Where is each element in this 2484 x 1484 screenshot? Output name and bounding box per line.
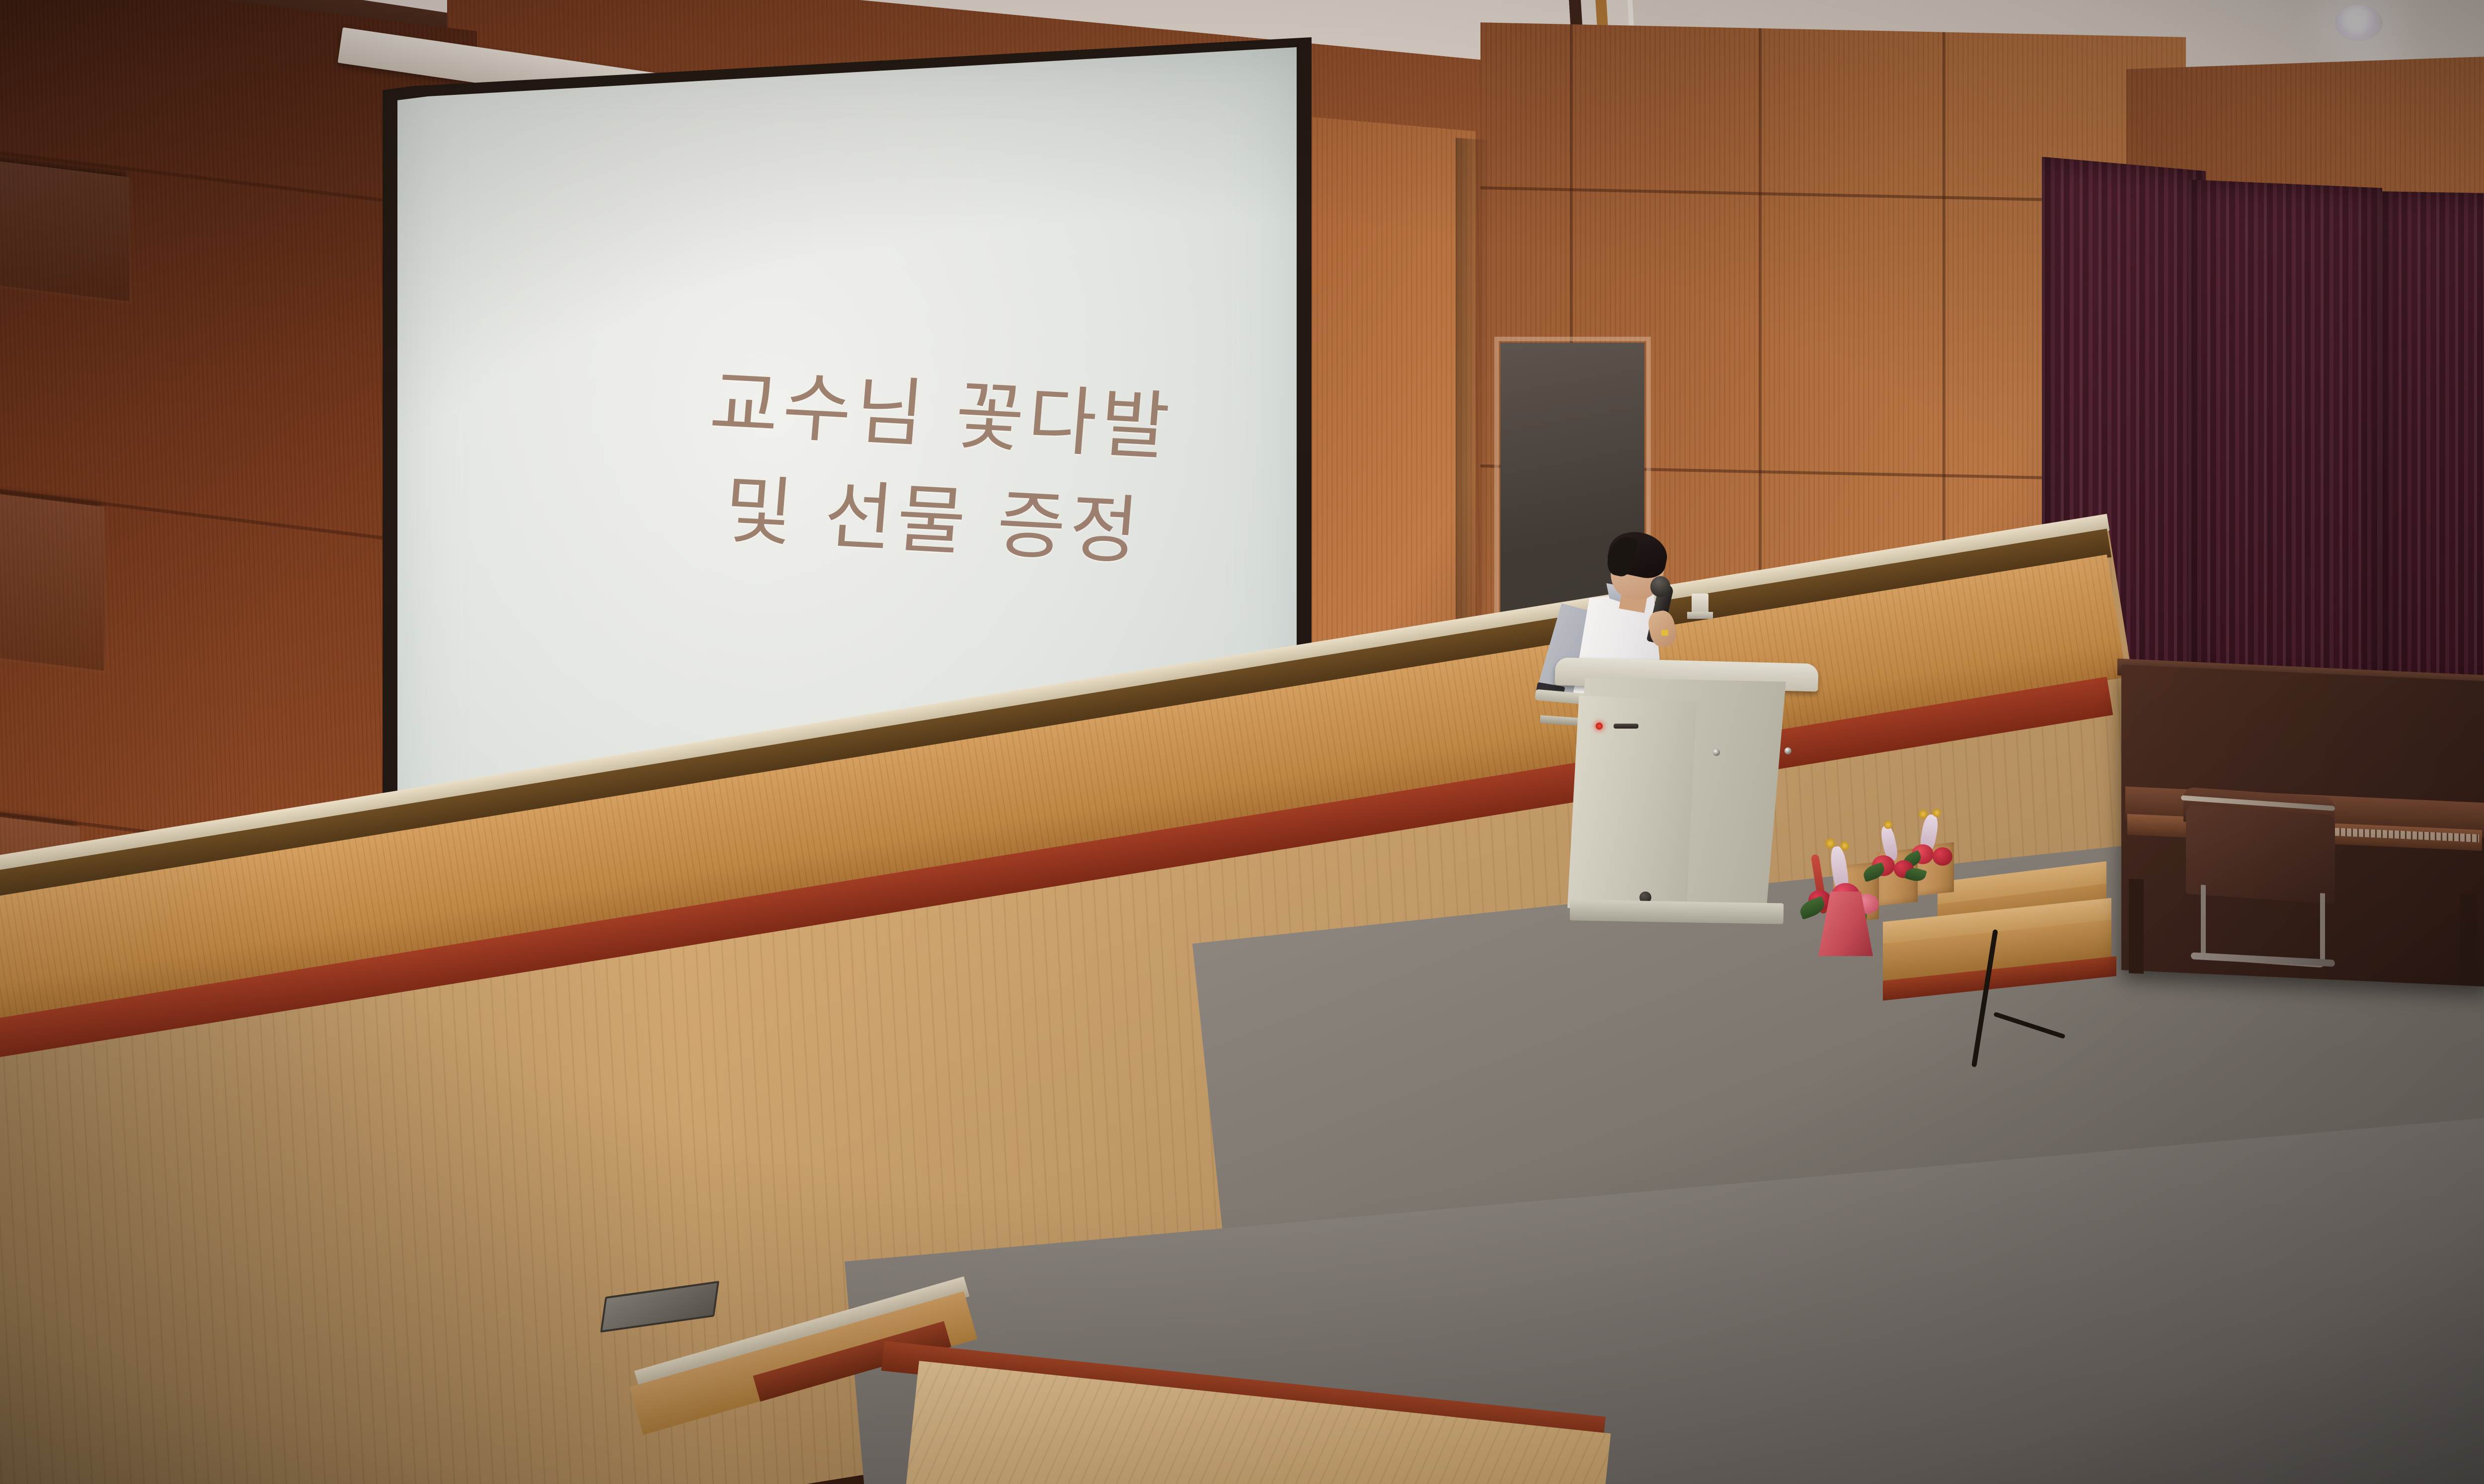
person-ring: [1661, 630, 1668, 636]
podium-screw: [1785, 747, 1791, 754]
piano-leg: [2460, 893, 2477, 984]
podium-power-indicator: [1596, 723, 1603, 730]
podium-base: [1570, 899, 1784, 924]
podium-device: [1692, 594, 1708, 613]
podium-handle[interactable]: [1614, 724, 1638, 729]
wall-relief-block: [0, 159, 129, 301]
auditorium-photo: 교수님 꽃다발 및 선물 증정: [0, 0, 2484, 1484]
bouquet-gold-tip: [1933, 809, 1941, 817]
wall-relief-block: [0, 492, 104, 671]
bouquet-gold-tip: [1884, 820, 1892, 829]
podium-screw: [1713, 749, 1720, 756]
downlight-on-icon: [2335, 5, 2383, 41]
bouquet-gold-tip: [1840, 841, 1849, 850]
bouquet-gold-tip: [1825, 838, 1835, 848]
curtain-panel: [2380, 191, 2484, 745]
bouquet-gold-tip: [1919, 810, 1928, 818]
flower-bloom: [1933, 847, 1952, 866]
podium-device-base: [1687, 612, 1713, 619]
piano-leg: [2129, 879, 2144, 973]
